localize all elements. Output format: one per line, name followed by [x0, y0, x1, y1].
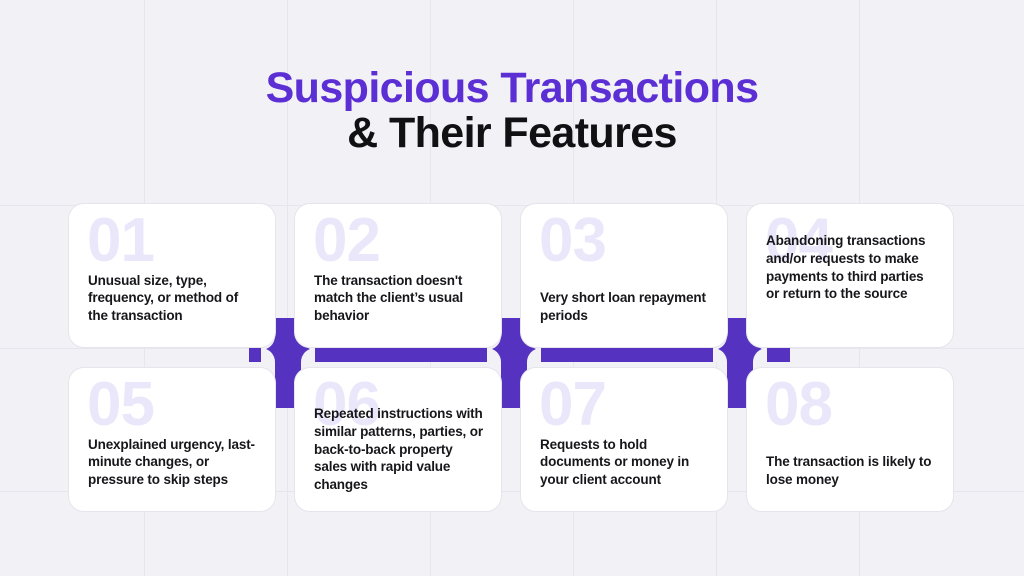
card-number: 07 [539, 374, 606, 436]
card-number: 05 [87, 374, 154, 436]
card-number: 02 [313, 210, 380, 272]
card-06[interactable]: 06 Repeated instructions with similar pa… [294, 367, 502, 512]
card-text: Unusual size, type, frequency, or method… [88, 272, 261, 325]
title-line-secondary: & Their Features [0, 111, 1024, 156]
card-03[interactable]: 03 Very short loan repayment periods [520, 203, 728, 348]
card-text: Unexplained urgency, last-minute changes… [88, 436, 261, 489]
card-04[interactable]: 04 Abandoning transactions and/or reques… [746, 203, 954, 348]
page-title: Suspicious Transactions & Their Features [0, 66, 1024, 155]
card-text: The transaction is likely to lose money [766, 453, 939, 489]
card-08[interactable]: 08 The transaction is likely to lose mon… [746, 367, 954, 512]
card-number: 08 [765, 374, 832, 436]
card-number: 01 [87, 210, 154, 272]
card-number: 03 [539, 210, 606, 272]
card-02[interactable]: 02 The transaction doesn't match the cli… [294, 203, 502, 348]
card-07[interactable]: 07 Requests to hold documents or money i… [520, 367, 728, 512]
card-05[interactable]: 05 Unexplained urgency, last-minute chan… [68, 367, 276, 512]
title-line-primary: Suspicious Transactions [0, 66, 1024, 111]
card-text: Very short loan repayment periods [540, 289, 713, 325]
card-text: Repeated instructions with similar patte… [314, 405, 487, 494]
card-01[interactable]: 01 Unusual size, type, frequency, or met… [68, 203, 276, 348]
card-text: Requests to hold documents or money in y… [540, 436, 713, 489]
card-text: Abandoning transactions and/or requests … [766, 232, 939, 303]
card-text: The transaction doesn't match the client… [314, 272, 487, 325]
infographic-canvas: Suspicious Transactions & Their Features… [0, 0, 1024, 576]
